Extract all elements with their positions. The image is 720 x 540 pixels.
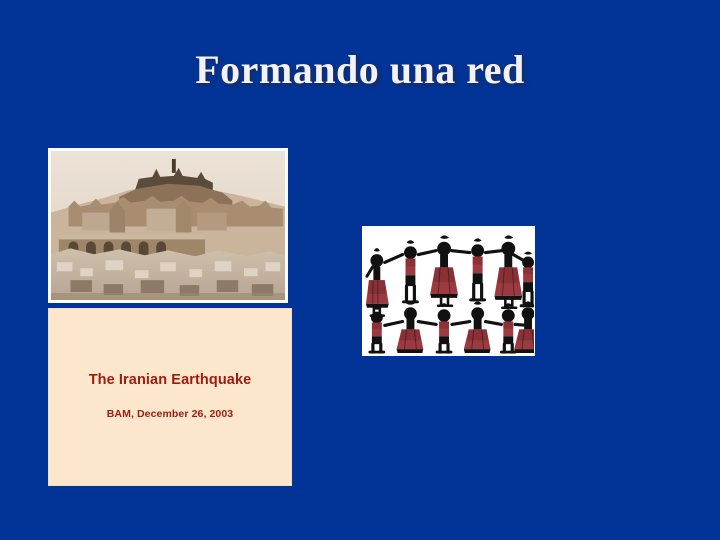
people-holding-hands-frame	[362, 226, 535, 356]
earthquake-caption-panel: The Iranian Earthquake BAM, December 26,…	[48, 308, 292, 486]
caption-title: The Iranian Earthquake	[49, 372, 291, 388]
bam-citadel-photo-frame	[48, 148, 288, 303]
page-title: Formando una red	[0, 46, 720, 93]
caption-subtitle: BAM, December 26, 2003	[49, 408, 291, 420]
people-holding-hands-clipart	[363, 227, 534, 355]
presentation-slide: Formando una red	[0, 0, 720, 540]
bam-citadel-earthquake-photo	[51, 151, 285, 300]
